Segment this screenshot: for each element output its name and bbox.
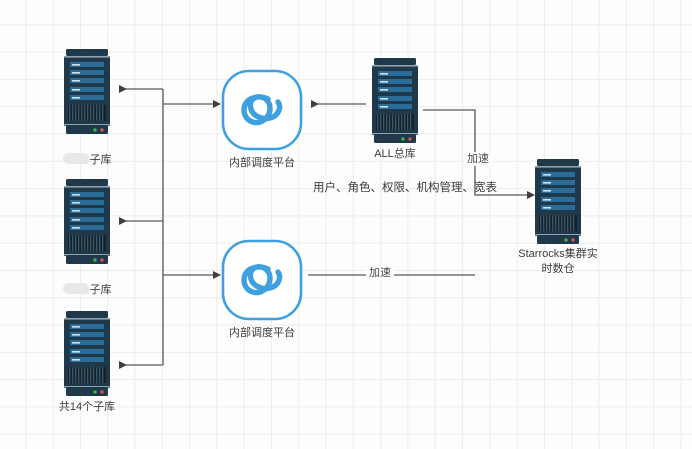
server-icon — [62, 48, 112, 136]
annotation-all-db-contents: 用户、角色、权限、机构管理、宽表 — [313, 181, 497, 196]
redacted-text-block — [63, 153, 89, 164]
server-icon — [62, 178, 112, 266]
node-label-text: 子库 — [90, 154, 112, 166]
infinity-loop-icon — [220, 238, 304, 322]
server-icon — [62, 310, 112, 398]
node-label-sub-db-1: 子库 — [34, 138, 140, 168]
node-label-text: 子库 — [90, 284, 112, 296]
node-all-db[interactable]: ALL总库 — [370, 57, 420, 150]
server-icon — [370, 57, 420, 145]
edge-label-accelerate-bottom: 加速 — [366, 266, 394, 280]
node-label-scheduler-top: 内部调度平台 — [202, 154, 322, 170]
node-sub-db-2[interactable]: 子库 — [62, 178, 112, 271]
diagram-canvas: 子库 — [0, 0, 692, 449]
server-icon — [533, 158, 583, 246]
node-sub-db-all[interactable]: 共14个子库 — [62, 310, 112, 403]
node-sub-db-1[interactable]: 子库 — [62, 48, 112, 141]
node-label-sub-db-2: 子库 — [34, 268, 140, 298]
node-label-scheduler-bottom: 内部调度平台 — [202, 324, 322, 340]
infinity-loop-icon — [220, 68, 304, 152]
redacted-text-block — [63, 283, 89, 294]
node-starrocks[interactable]: Starrocks集群实 时数仓 — [533, 158, 583, 251]
node-label-all-db: ALL总库 — [342, 147, 448, 162]
node-label-starrocks: Starrocks集群实 时数仓 — [501, 247, 615, 277]
node-label-sub-db-all: 共14个子库 — [34, 400, 140, 415]
node-scheduler-top[interactable]: 内部调度平台 — [220, 68, 304, 157]
edge-label-accelerate-top: 加速 — [464, 152, 492, 166]
node-scheduler-bottom[interactable]: 内部调度平台 — [220, 238, 304, 327]
